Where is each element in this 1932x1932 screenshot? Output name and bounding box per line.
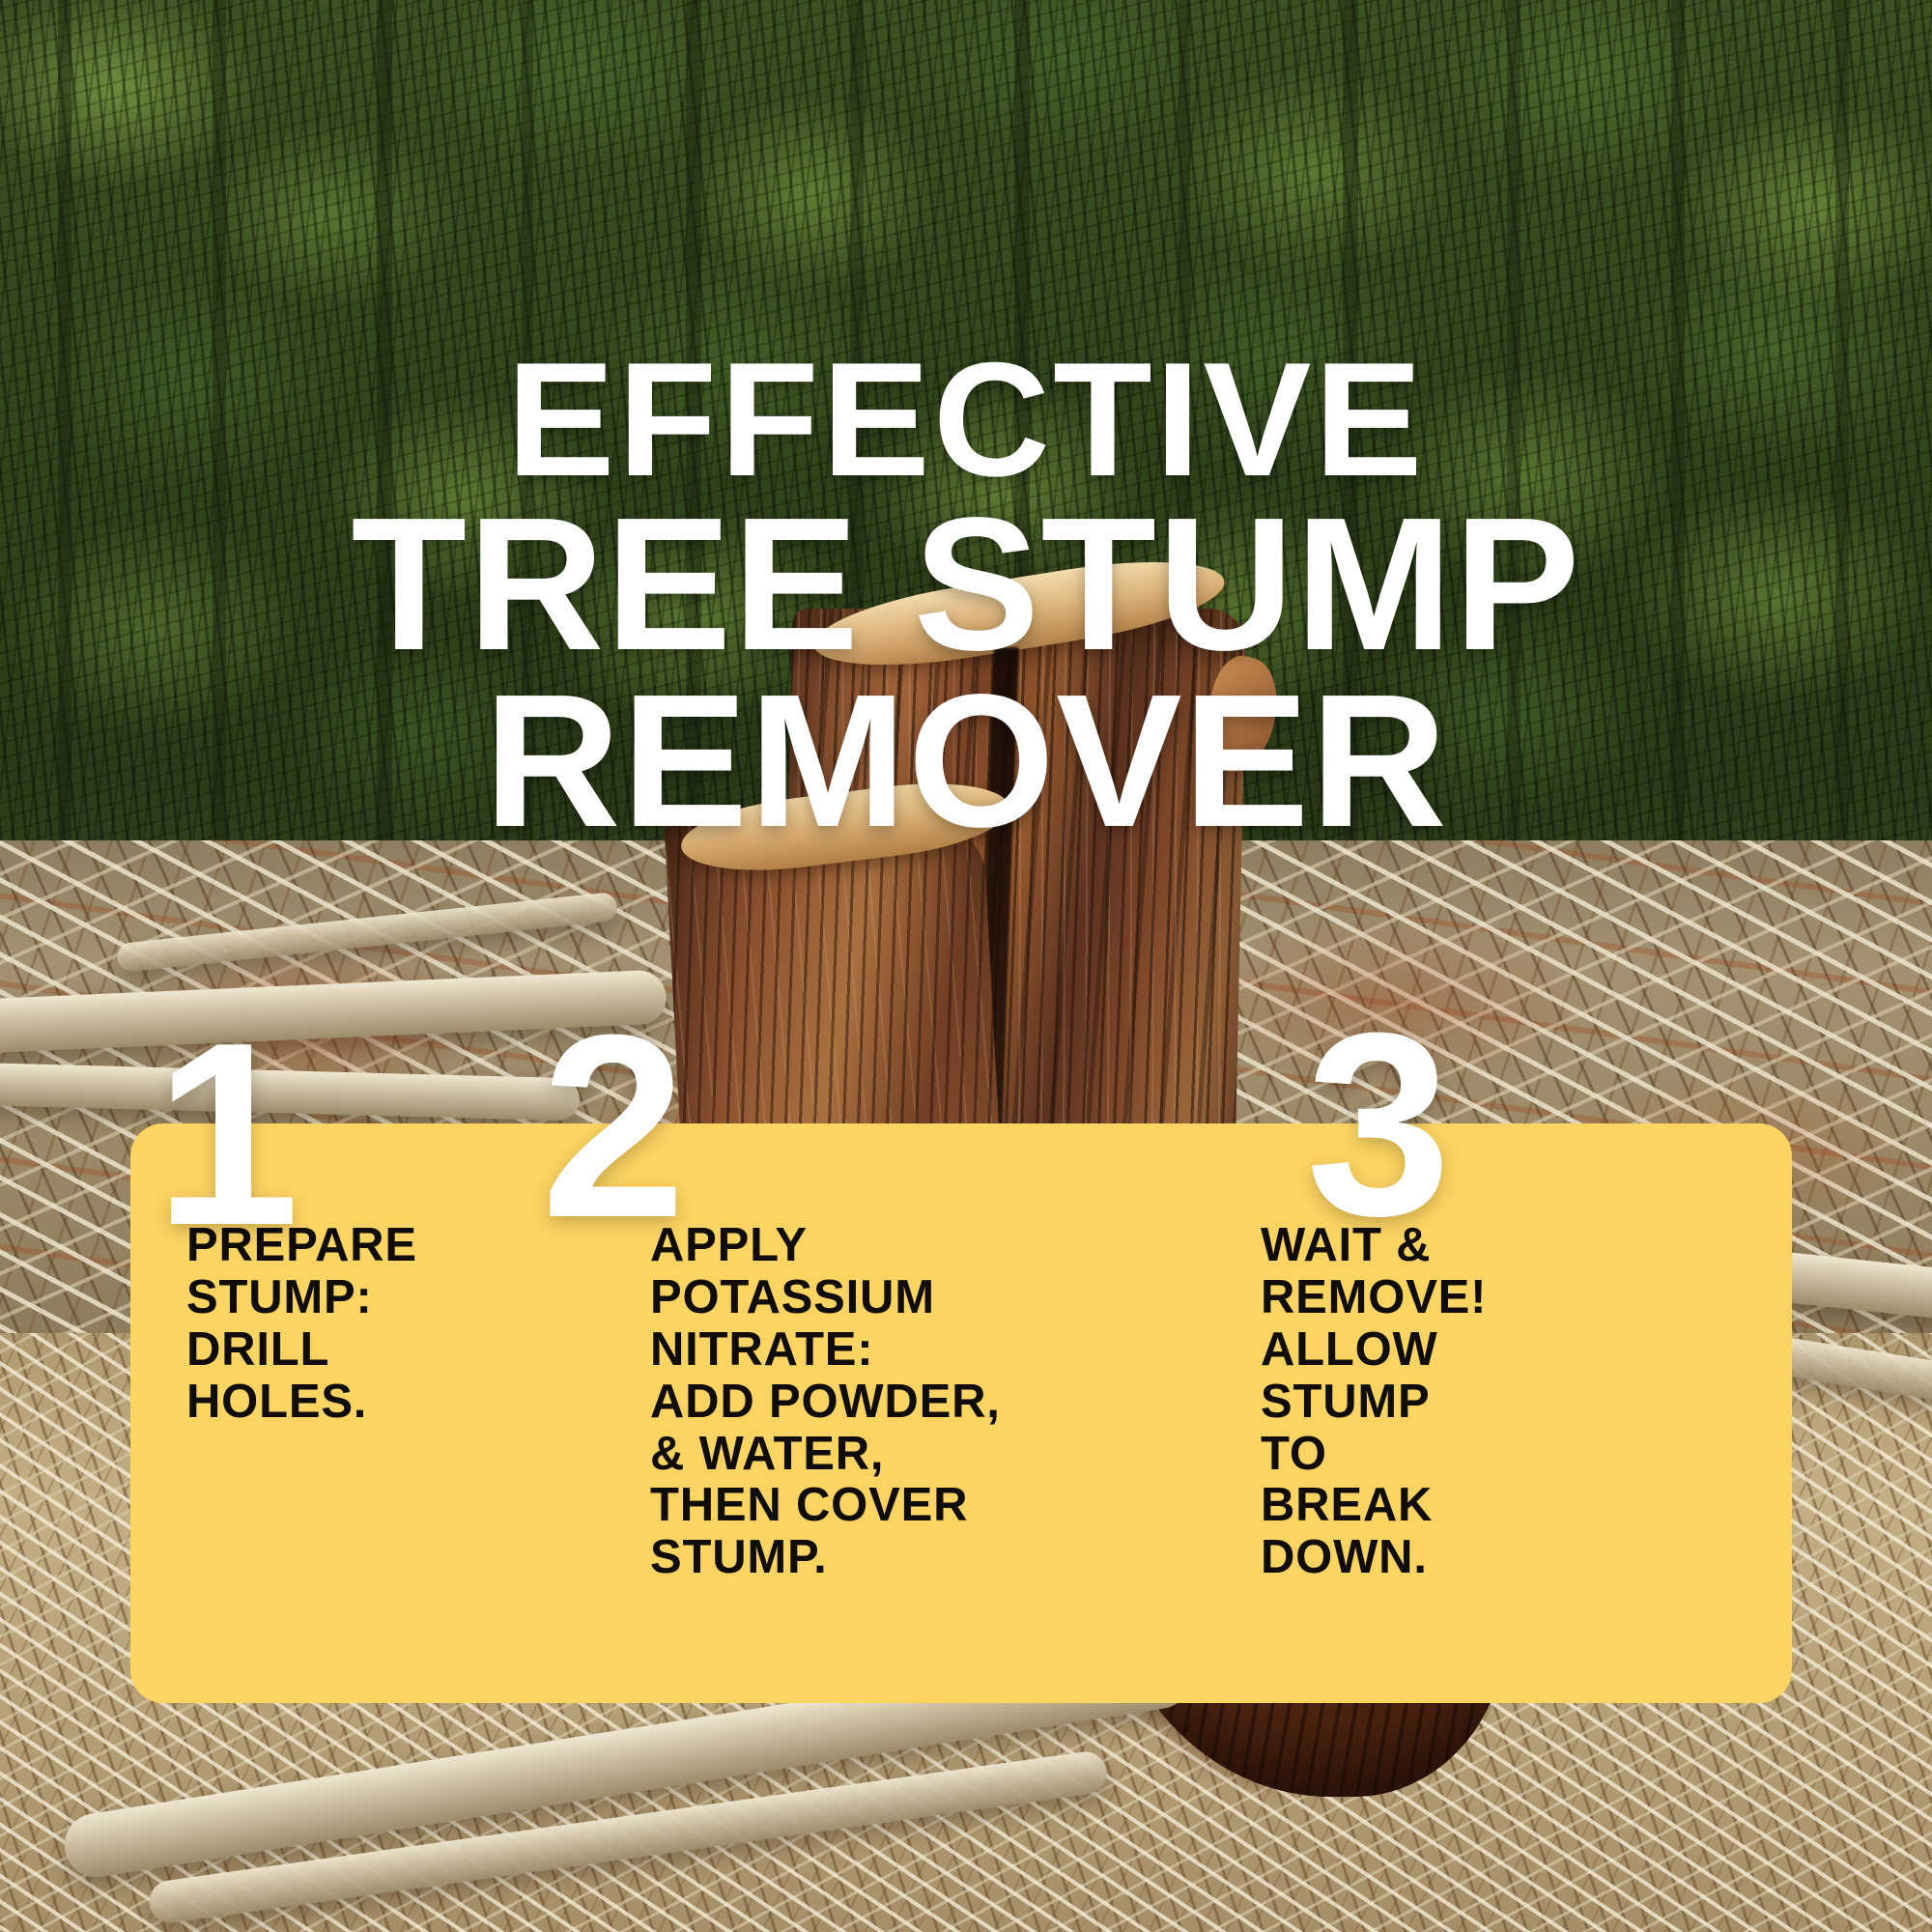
page-title: EFFECTIVE TREE STUMP REMOVER <box>0 344 1932 850</box>
step-number-2: 2 <box>541 997 682 1258</box>
step-number-1: 1 <box>155 1005 296 1265</box>
steps-row: PREPARE STUMP: DRILL HOLES. APPLY POTASS… <box>130 1123 1792 1703</box>
step-number-3: 3 <box>1306 995 1447 1256</box>
step-2-text: APPLY POTASSIUM NITRATE: ADD POWDER, & W… <box>650 1220 1205 1584</box>
headline-line-3: REMOVER <box>0 672 1932 849</box>
step-item-2: APPLY POTASSIUM NITRATE: ADD POWDER, & W… <box>604 1123 1222 1584</box>
headline-line-2: TREE STUMP <box>0 496 1932 672</box>
step-3-text: WAIT & REMOVE! ALLOW STUMP TO BREAK DOWN… <box>1261 1220 1775 1584</box>
infographic-poster: EFFECTIVE TREE STUMP REMOVER PREPARE STU… <box>0 0 1932 1932</box>
headline-line-1: EFFECTIVE <box>0 344 1932 496</box>
steps-panel: PREPARE STUMP: DRILL HOLES. APPLY POTASS… <box>130 1123 1792 1703</box>
